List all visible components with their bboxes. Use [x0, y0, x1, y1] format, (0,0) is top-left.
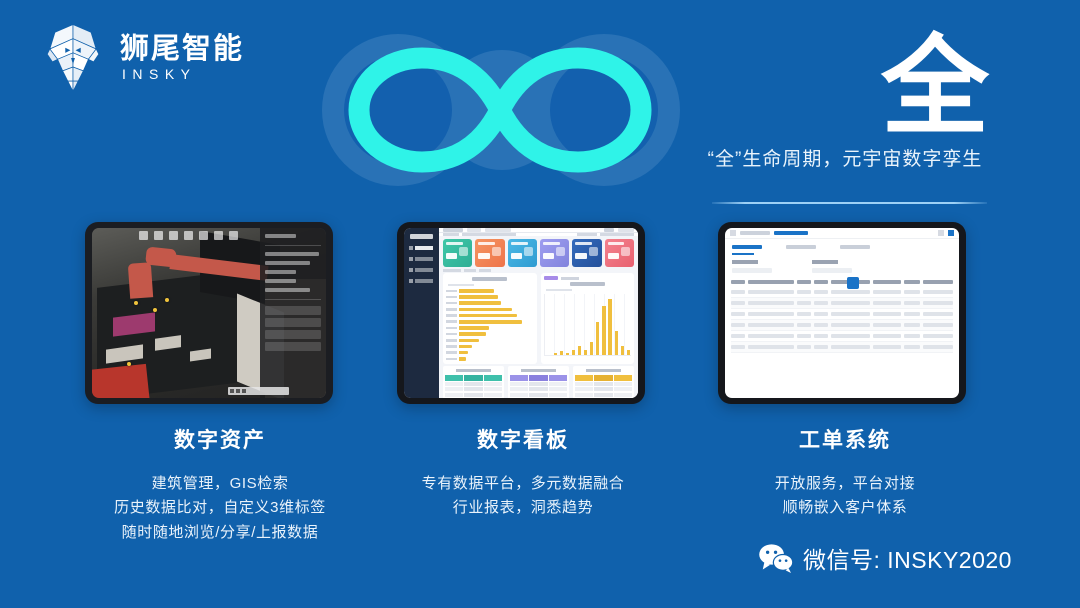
caption-title: 工单系统: [680, 424, 1010, 454]
kpi-card[interactable]: [508, 239, 537, 267]
panel-list-item[interactable]: [265, 318, 321, 327]
brand-name-en: INSKY: [120, 67, 244, 82]
kpi-card-row: [439, 236, 638, 269]
table-row[interactable]: [731, 342, 953, 353]
kpi-card[interactable]: [572, 239, 601, 267]
viewer-bottom-bar[interactable]: [228, 387, 289, 395]
tab-processing[interactable]: [786, 245, 816, 249]
table-header-row: [731, 280, 953, 287]
dashboard-chart-row: [439, 272, 638, 366]
caption-line: 开放服务，平台对接: [680, 472, 1010, 496]
caption-digital-dashboard: 数字看板 专有数据平台，多元数据融合 行业报表，洞悉趋势: [358, 424, 688, 521]
viewer-info-panel: [260, 228, 326, 398]
table-row[interactable]: [731, 287, 953, 298]
tab-bar[interactable]: [725, 239, 959, 251]
feature-card-digital-dashboard[interactable]: [397, 222, 645, 404]
caption-title: 数字资产: [55, 424, 385, 454]
caption-digital-asset: 数字资产 建筑管理，GIS检索 历史数据比对，自定义3维标签 随时随地浏览/分享…: [55, 424, 385, 545]
hero-tagline: “全”生命周期，元宇宙数字孪生: [690, 148, 1000, 173]
toolbar-icon[interactable]: [169, 231, 178, 240]
chart-legend-label: [561, 277, 579, 280]
toolbar-icon[interactable]: [184, 231, 193, 240]
vertical-bar-chart: [541, 273, 634, 364]
caption-line: 历史数据比对，自定义3维标签: [55, 496, 385, 520]
lion-head-diamond-icon: [40, 22, 106, 94]
horizontal-bar-chart: [443, 273, 536, 364]
tablet-frame: [85, 222, 333, 404]
caption-line: 顺畅嵌入客户体系: [680, 496, 1010, 520]
table-row[interactable]: [731, 309, 953, 320]
avatar[interactable]: [948, 230, 954, 236]
feature-card-work-order[interactable]: [718, 222, 966, 404]
toolbar-icon[interactable]: [229, 231, 238, 240]
table-row[interactable]: [731, 320, 953, 331]
kpi-card[interactable]: [475, 239, 504, 267]
tablet-frame: [397, 222, 645, 404]
chart-legend-swatch: [544, 276, 558, 280]
screenshot-bi-dashboard: [404, 228, 638, 398]
screenshot-aerial-3d-viewer: [92, 228, 326, 398]
toolbar-icon[interactable]: [139, 231, 148, 240]
toolbar-icon[interactable]: [154, 231, 163, 240]
wechat-contact: 微信号: INSKY2020: [758, 541, 1012, 575]
app-topbar[interactable]: [725, 228, 959, 239]
work-order-table: [725, 273, 959, 353]
toolbar-icon[interactable]: [199, 231, 208, 240]
dashboard-sidebar[interactable]: [404, 228, 439, 398]
tab-pending[interactable]: [732, 245, 762, 249]
hero-divider: [712, 202, 987, 204]
toolbar-icon[interactable]: [214, 231, 223, 240]
menu-icon[interactable]: [730, 230, 736, 236]
data-table[interactable]: [443, 366, 504, 398]
wechat-bubbles-icon: [758, 543, 794, 573]
screenshot-work-order-list: [725, 228, 959, 398]
sidebar-item[interactable]: [409, 279, 436, 283]
viewer-toolbar[interactable]: [139, 231, 238, 240]
page-title-char: 全: [860, 34, 1010, 142]
wechat-id-label: 微信号: INSKY2020: [803, 541, 1012, 575]
feature-card-digital-asset[interactable]: [85, 222, 333, 404]
kpi-card[interactable]: [443, 239, 472, 267]
caption-line: 专有数据平台，多元数据融合: [358, 472, 688, 496]
filter-form[interactable]: [725, 255, 959, 273]
infinity-symbol-icon: [325, 40, 675, 180]
sidebar-item[interactable]: [409, 268, 436, 272]
dashboard-table-row: [439, 366, 638, 398]
filter-field-customer[interactable]: [812, 260, 852, 273]
caption-line: 行业报表，洞悉趋势: [358, 496, 688, 520]
brand-name-cn: 狮尾智能: [120, 34, 244, 64]
panel-list-item[interactable]: [265, 330, 321, 339]
sidebar-item[interactable]: [409, 246, 436, 250]
settings-icon[interactable]: [938, 230, 944, 236]
table-row[interactable]: [731, 331, 953, 342]
kpi-card[interactable]: [605, 239, 634, 267]
tablet-frame: [718, 222, 966, 404]
filter-field-order-no[interactable]: [732, 260, 772, 273]
data-table[interactable]: [573, 366, 634, 398]
feature-card-row: [0, 222, 1080, 422]
brand-logo: 狮尾智能 INSKY: [40, 22, 244, 94]
sidebar-item[interactable]: [409, 257, 436, 261]
panel-list-item[interactable]: [265, 306, 321, 315]
search-button[interactable]: [847, 277, 859, 289]
tab-completed[interactable]: [840, 245, 870, 249]
panel-list-item[interactable]: [265, 342, 321, 351]
caption-line: 建筑管理，GIS检索: [55, 472, 385, 496]
caption-line: 随时随地浏览/分享/上报数据: [55, 521, 385, 545]
caption-title: 数字看板: [358, 424, 688, 454]
data-table[interactable]: [508, 366, 569, 398]
table-row[interactable]: [731, 298, 953, 309]
caption-work-order: 工单系统 开放服务，平台对接 顺畅嵌入客户体系: [680, 424, 1010, 521]
kpi-card[interactable]: [540, 239, 569, 267]
